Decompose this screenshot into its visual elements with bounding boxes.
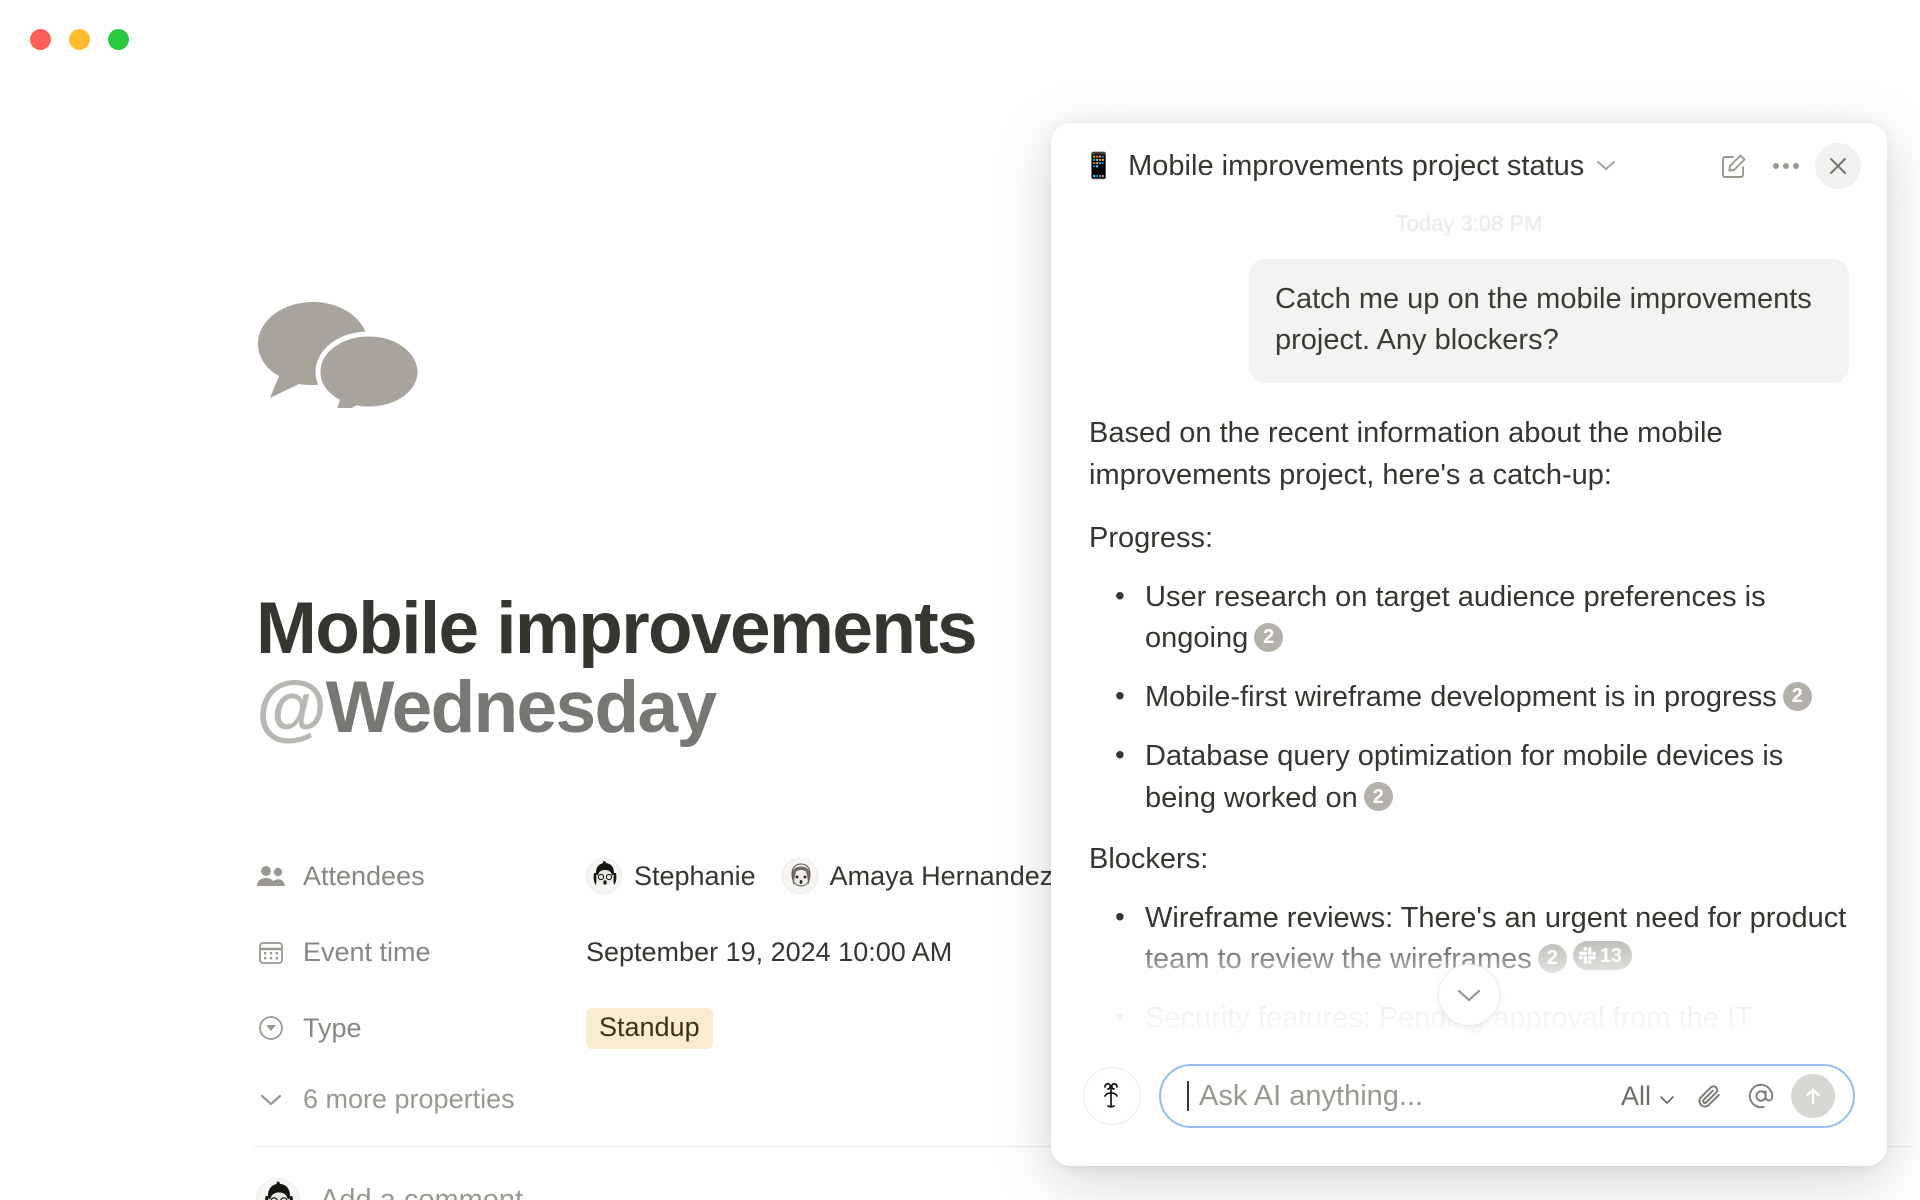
window-close-button[interactable] — [30, 29, 51, 50]
comment-input-placeholder[interactable]: Add a comment... — [320, 1184, 547, 1200]
user-message-bubble: Catch me up on the mobile improvements p… — [1249, 259, 1849, 383]
ai-input-placeholder[interactable]: Ask AI anything... — [1199, 1080, 1613, 1113]
ai-chat-panel: 📱 Mobile improvements project status — [1051, 123, 1887, 1166]
chevron-down-icon — [1659, 1081, 1675, 1112]
ai-panel-title: Mobile improvements project status — [1128, 150, 1584, 183]
ai-section-heading-progress: Progress: — [1089, 518, 1849, 559]
avatar — [256, 1178, 300, 1200]
new-chat-button[interactable] — [1711, 143, 1757, 189]
ai-face-icon[interactable] — [1083, 1067, 1141, 1125]
add-comment-row[interactable]: Add a comment... — [256, 1178, 547, 1200]
ai-response: Based on the recent information about th… — [1089, 413, 1849, 1048]
chevron-down-icon — [256, 1093, 286, 1107]
scope-selector[interactable]: All — [1621, 1081, 1675, 1112]
people-icon — [256, 861, 286, 891]
message-timestamp: Today 3:08 PM — [1089, 211, 1849, 237]
calendar-icon — [256, 937, 286, 967]
attendee-name: Stephanie — [634, 861, 756, 892]
property-label-text: Type — [303, 1013, 362, 1044]
close-panel-button[interactable] — [1815, 143, 1861, 189]
mention-at-symbol: @ — [256, 667, 326, 748]
scroll-to-bottom-button[interactable] — [1438, 964, 1500, 1026]
citation-badge[interactable]: 2 — [1254, 623, 1283, 652]
list-item: Mobile-first wireframe development is in… — [1089, 677, 1849, 718]
window-minimize-button[interactable] — [69, 29, 90, 50]
ai-composer: Ask AI anything... All — [1051, 1048, 1887, 1166]
slack-citation-badge[interactable]: 13 — [1573, 941, 1632, 970]
paperclip-icon[interactable] — [1687, 1074, 1731, 1118]
citation-badge[interactable]: 2 — [1783, 682, 1812, 711]
property-label-text: Attendees — [303, 861, 425, 892]
ai-conversation[interactable]: Today 3:08 PM Catch me up on the mobile … — [1051, 209, 1887, 1048]
ai-section-heading-blockers: Blockers: — [1089, 839, 1849, 880]
ai-progress-list: User research on target audience prefere… — [1089, 577, 1849, 819]
slack-citation-count: 13 — [1600, 946, 1622, 966]
ai-panel-title-group[interactable]: 📱 Mobile improvements project status — [1083, 150, 1705, 183]
citation-badge[interactable]: 2 — [1323, 1044, 1352, 1048]
attendee-name: Amaya Hernandez — [830, 861, 1054, 892]
ai-panel-header: 📱 Mobile improvements project status — [1051, 123, 1887, 209]
attendee-stephanie[interactable]: Stephanie — [586, 858, 756, 894]
window-zoom-button[interactable] — [108, 29, 129, 50]
select-icon — [256, 1013, 286, 1043]
ai-intro-paragraph: Based on the recent information about th… — [1089, 413, 1849, 495]
mention-day[interactable]: Wednesday — [326, 667, 716, 748]
property-value-event-time: September 19, 2024 10:00 AM — [586, 937, 952, 968]
scope-label: All — [1621, 1081, 1651, 1112]
list-item-text: Mobile-first wireframe development is in… — [1145, 681, 1777, 713]
property-value-attendees: Stephanie — [586, 858, 1079, 894]
text-caret — [1187, 1081, 1189, 1111]
app-window: Mobile improvements @Wednesday Attendees — [0, 0, 1920, 1200]
avatar — [782, 858, 818, 894]
citation-badge[interactable]: 2 — [1538, 944, 1567, 973]
more-properties-label: 6 more properties — [303, 1084, 515, 1115]
send-button[interactable] — [1791, 1074, 1835, 1118]
more-options-button[interactable] — [1763, 143, 1809, 189]
attendee-amaya[interactable]: Amaya Hernandez — [782, 858, 1054, 894]
ai-input-box[interactable]: Ask AI anything... All — [1159, 1064, 1855, 1128]
list-item-text: User research on target audience prefere… — [1145, 581, 1766, 654]
page-title-text: Mobile improvements — [256, 588, 976, 669]
chevron-down-icon[interactable] — [1596, 160, 1616, 172]
slack-icon — [1579, 947, 1596, 964]
property-label-event-time: Event time — [256, 937, 586, 968]
property-label-attendees: Attendees — [256, 861, 586, 892]
list-item-text: Database query optimization for mobile d… — [1145, 740, 1783, 813]
window-titlebar — [0, 0, 1920, 78]
avatar — [586, 858, 622, 894]
property-label-type: Type — [256, 1013, 586, 1044]
property-label-text: Event time — [303, 937, 431, 968]
at-icon[interactable] — [1739, 1074, 1783, 1118]
list-item: User research on target audience prefere… — [1089, 577, 1849, 659]
list-item: Database query optimization for mobile d… — [1089, 736, 1849, 818]
mobile-phone-icon: 📱 — [1083, 154, 1114, 179]
traffic-lights — [30, 29, 129, 50]
status-badge[interactable]: Standup — [586, 1008, 713, 1049]
property-value-type: Standup — [586, 1008, 713, 1049]
speech-bubbles-icon[interactable] — [256, 300, 422, 408]
citation-badge[interactable]: 2 — [1364, 782, 1393, 811]
list-item-text: Wireframe reviews: There's an urgent nee… — [1145, 902, 1846, 975]
